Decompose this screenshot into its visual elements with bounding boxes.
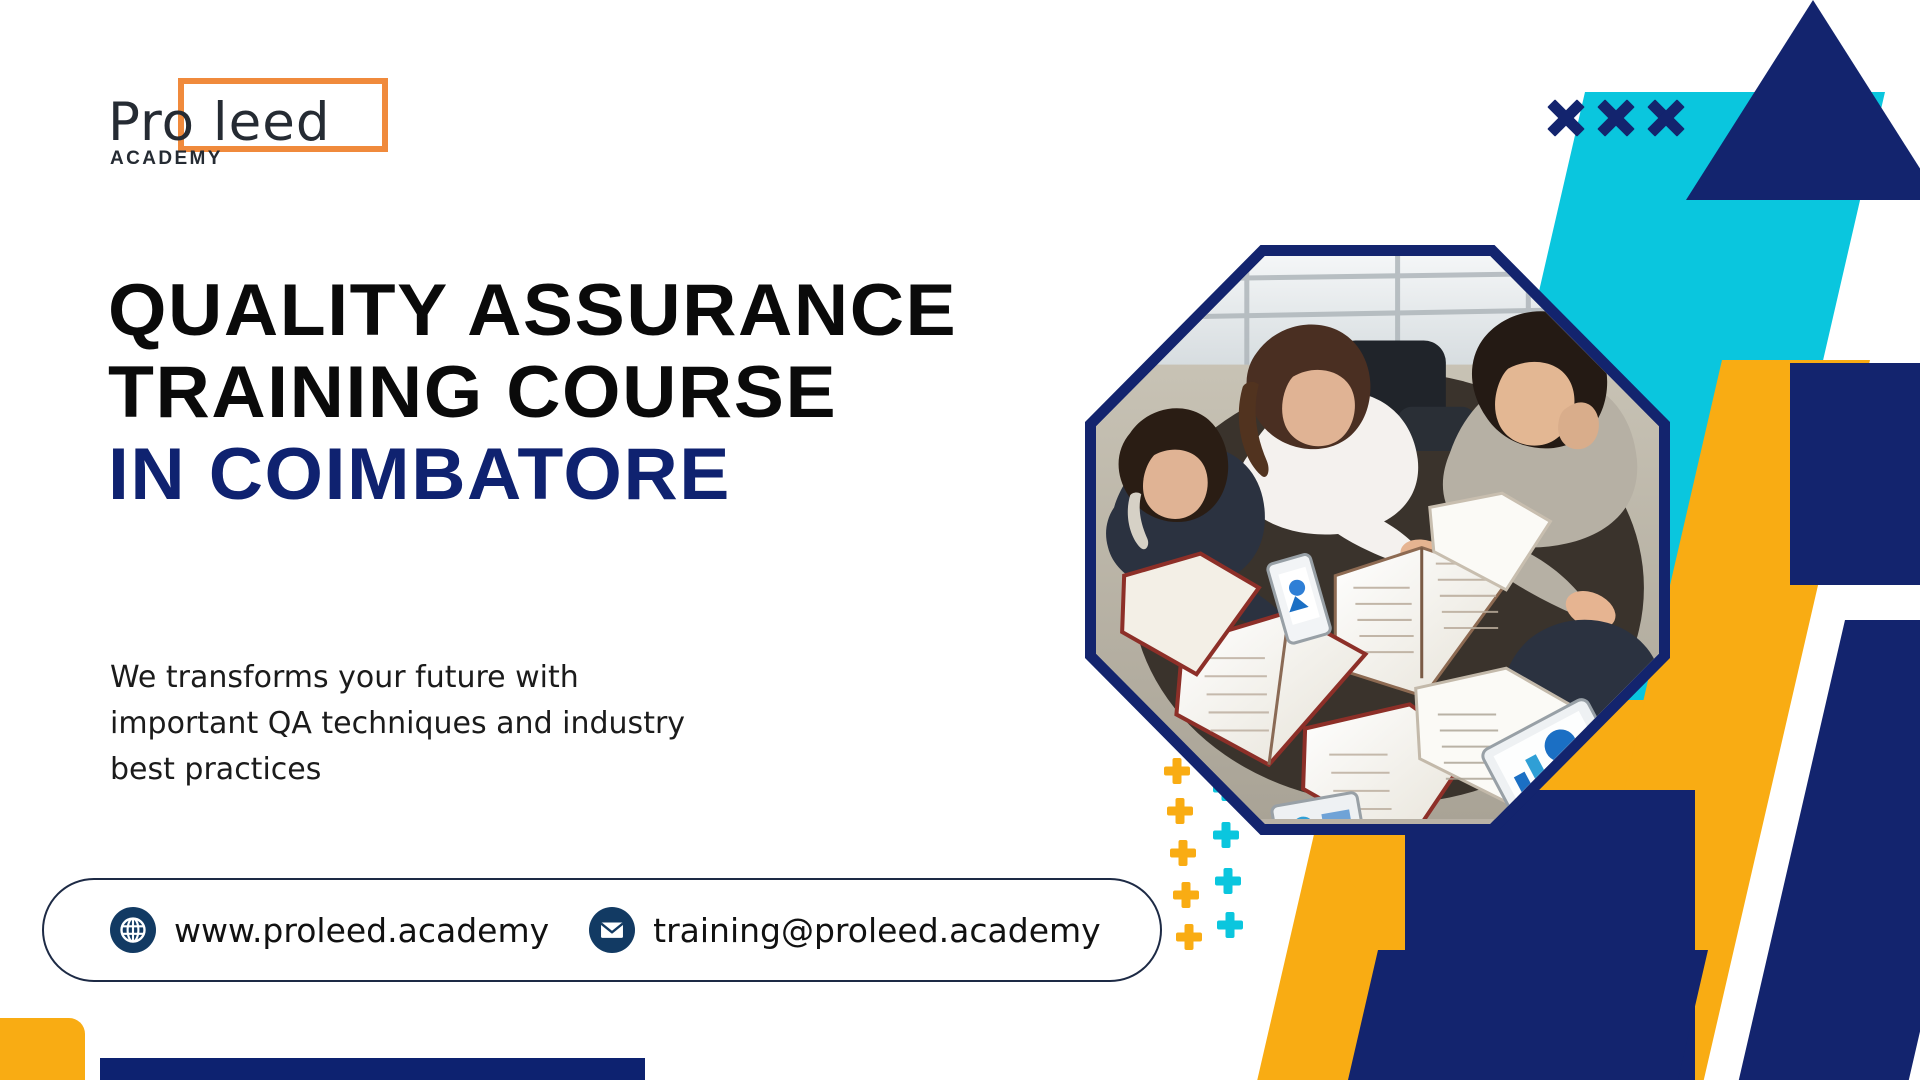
- navy-block-right: [1790, 363, 1920, 585]
- email-contact[interactable]: training@proleed.academy: [589, 907, 1101, 953]
- headline-line-3: IN COIMBATORE: [108, 434, 1097, 516]
- brand-logo[interactable]: Pro leed ACADEMY: [108, 76, 388, 168]
- amber-corner-block: [0, 1018, 85, 1080]
- x-icon: [1648, 100, 1684, 136]
- poster-canvas: Pro leed ACADEMY QUALITY ASSURANCE TRAIN…: [0, 0, 1920, 1080]
- paragraph-line-2: important QA techniques and industry: [110, 701, 890, 747]
- x-icon: [1548, 100, 1584, 136]
- email-text: training@proleed.academy: [653, 911, 1101, 950]
- plus-icon: [1217, 912, 1243, 938]
- navy-bottom-bar: [100, 1058, 645, 1080]
- x-icon: [1598, 100, 1634, 136]
- page-title: QUALITY ASSURANCE TRAINING COURSE IN COI…: [108, 270, 1068, 515]
- navy-triangle-top: [1686, 0, 1920, 200]
- plus-icon: [1173, 882, 1199, 908]
- subheading-paragraph: We transforms your future with important…: [110, 655, 890, 793]
- logo-subtext: ACADEMY: [110, 148, 223, 170]
- globe-icon: [110, 907, 156, 953]
- headline-line-1: QUALITY ASSURANCE: [108, 270, 1097, 352]
- hero-photo-frame: [1085, 245, 1670, 835]
- website-contact[interactable]: www.proleed.academy: [110, 907, 549, 953]
- paragraph-line-1: We transforms your future with: [110, 655, 890, 701]
- plus-icon: [1176, 924, 1202, 950]
- plus-icon: [1215, 868, 1241, 894]
- paragraph-line-3: best practices: [110, 747, 890, 793]
- headline-line-2: TRAINING COURSE: [108, 352, 1097, 434]
- logo-wordmark: Pro leed: [108, 92, 331, 153]
- website-text: www.proleed.academy: [174, 911, 549, 950]
- x-marks-group: [1548, 100, 1684, 136]
- contact-bar: www.proleed.academy training@proleed.aca…: [42, 878, 1162, 982]
- navy-band-bottom: [1332, 950, 1708, 1080]
- plus-icon: [1170, 840, 1196, 866]
- envelope-icon: [589, 907, 635, 953]
